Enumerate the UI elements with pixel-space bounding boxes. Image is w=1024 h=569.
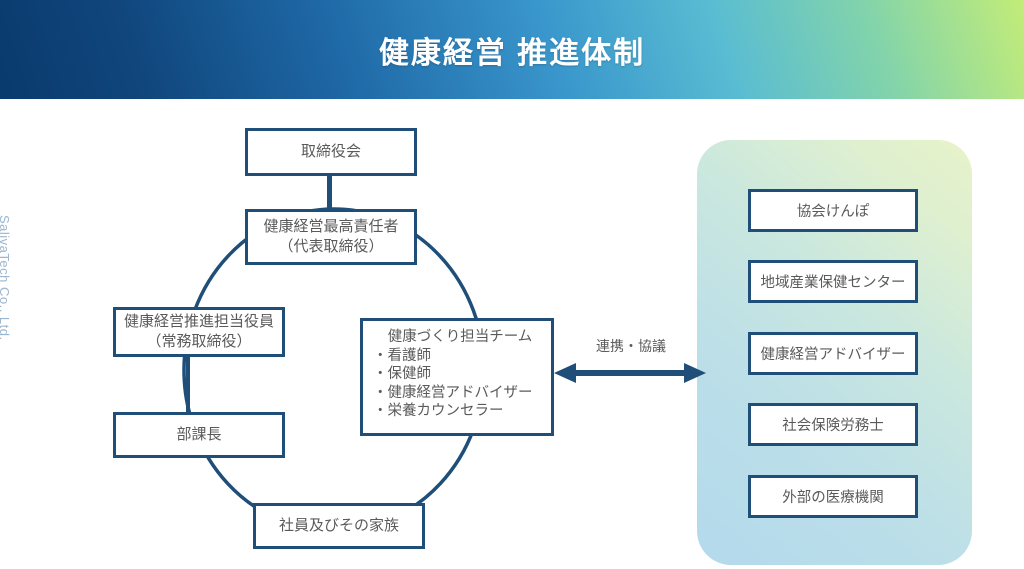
- org-box-board[interactable]: 取締役会: [245, 128, 417, 176]
- org-box-board-label: 取締役会: [301, 142, 361, 162]
- org-box-ceo-label: 健康経営最高責任者: [263, 217, 398, 237]
- connector-board-to-ceo: [327, 174, 332, 212]
- org-box-employees-label: 社員及びその家族: [279, 516, 399, 536]
- org-box-department-manager[interactable]: 部課長: [113, 412, 285, 458]
- health-team-title: 健康づくり担当チーム: [363, 328, 551, 347]
- company-name-label: SalivaTech Co., Ltd.: [0, 215, 12, 239]
- health-team-member-3: ・栄養カウンセラー: [363, 402, 504, 421]
- partner-label-3: 社会保険労務士: [782, 414, 884, 435]
- org-box-exec-officer-label: 健康経営推進担当役員: [124, 312, 274, 332]
- org-box-exec-officer[interactable]: 健康経営推進担当役員 （常務取締役）: [113, 307, 285, 357]
- org-box-ceo[interactable]: 健康経営最高責任者 （代表取締役）: [245, 209, 417, 265]
- org-box-employees[interactable]: 社員及びその家族: [253, 503, 425, 549]
- partner-label-0: 協会けんぽ: [797, 200, 870, 221]
- org-box-health-team[interactable]: 健康づくり担当チーム ・看護師 ・保健師 ・健康経営アドバイザー ・栄養カウンセ…: [360, 318, 554, 436]
- org-box-ceo-sublabel: （代表取締役）: [278, 237, 383, 257]
- partner-box-external-medical-institution[interactable]: 外部の医療機関: [748, 475, 918, 518]
- health-team-member-0: ・看護師: [363, 347, 431, 366]
- collaboration-label: 連携・協議: [576, 336, 686, 356]
- partner-box-kyokai-kenpo[interactable]: 協会けんぽ: [748, 189, 918, 232]
- partner-box-health-management-advisor[interactable]: 健康経営アドバイザー: [748, 332, 918, 375]
- partner-label-4: 外部の医療機関: [782, 486, 884, 507]
- double-headed-arrow-icon: [552, 360, 708, 386]
- page-title: 健康経営 推進体制: [0, 0, 1024, 99]
- partner-box-social-insurance-labor-consultant[interactable]: 社会保険労務士: [748, 403, 918, 446]
- slide-canvas: 健康経営 推進体制 SalivaTech Co., Ltd. 取締役会 健康経営…: [0, 0, 1024, 569]
- health-team-member-1: ・保健師: [363, 365, 431, 384]
- partner-box-regional-health-center[interactable]: 地域産業保健センター: [748, 260, 918, 303]
- partner-label-1: 地域産業保健センター: [761, 271, 906, 292]
- org-box-department-manager-label: 部課長: [176, 425, 221, 445]
- partner-label-2: 健康経営アドバイザー: [761, 343, 906, 364]
- health-team-member-2: ・健康経営アドバイザー: [363, 384, 533, 403]
- org-box-exec-officer-sublabel: （常務取締役）: [146, 332, 251, 352]
